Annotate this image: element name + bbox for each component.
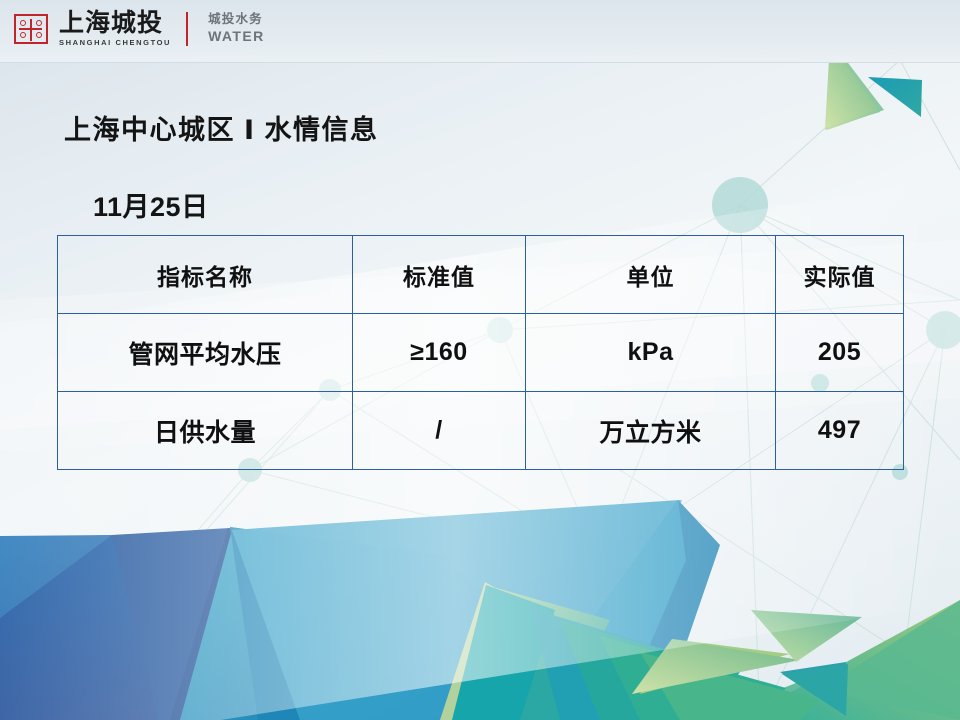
column-header-standard: 标准值 xyxy=(353,236,526,314)
table-header-row: 指标名称 标准值 单位 实际值 xyxy=(58,236,904,314)
brand-wordmark: 上海城投 SHANGHAI CHENGTOU xyxy=(59,11,171,47)
column-header-unit: 单位 xyxy=(526,236,776,314)
logo-dot-top-left xyxy=(20,20,26,26)
cell-standard: ≥160 xyxy=(353,314,526,392)
sub-brand-name-en: WATER xyxy=(208,28,265,46)
logo-dot-bottom-left xyxy=(20,32,26,38)
page-title: 上海中心城区 Ⅰ 水情信息 xyxy=(64,108,379,147)
report-date: 11月25日 xyxy=(93,185,209,224)
cell-standard: / xyxy=(353,392,526,470)
slide-canvas: 上海城投 SHANGHAI CHENGTOU 城投水务 WATER 上海中心城区… xyxy=(0,0,960,720)
table-row: 日供水量 / 万立方米 497 xyxy=(58,392,904,470)
column-header-actual: 实际值 xyxy=(776,236,904,314)
cell-unit: 万立方米 xyxy=(526,392,776,470)
brand-divider xyxy=(186,12,188,46)
logo-dot-top-right xyxy=(36,20,42,26)
header-bar: 上海城投 SHANGHAI CHENGTOU 城投水务 WATER xyxy=(0,0,960,63)
brand-lockup: 上海城投 SHANGHAI CHENGTOU 城投水务 WATER xyxy=(14,11,265,47)
brand-name-en: SHANGHAI CHENGTOU xyxy=(59,39,171,47)
shanghai-chengtou-logo-icon xyxy=(14,14,48,44)
cell-actual: 497 xyxy=(776,392,904,470)
cell-unit: kPa xyxy=(526,314,776,392)
column-header-indicator: 指标名称 xyxy=(58,236,353,314)
brand-name-cn: 上海城投 xyxy=(59,11,171,36)
cell-indicator: 管网平均水压 xyxy=(58,314,353,392)
water-info-table: 指标名称 标准值 单位 实际值 管网平均水压 ≥160 kPa 205 日供水量… xyxy=(57,235,904,470)
cell-indicator: 日供水量 xyxy=(58,392,353,470)
sub-brand-lockup: 城投水务 WATER xyxy=(208,12,265,45)
table-row: 管网平均水压 ≥160 kPa 205 xyxy=(58,314,904,392)
sub-brand-name-cn: 城投水务 xyxy=(208,12,265,28)
logo-dot-bottom-right xyxy=(36,32,42,38)
cell-actual: 205 xyxy=(776,314,904,392)
